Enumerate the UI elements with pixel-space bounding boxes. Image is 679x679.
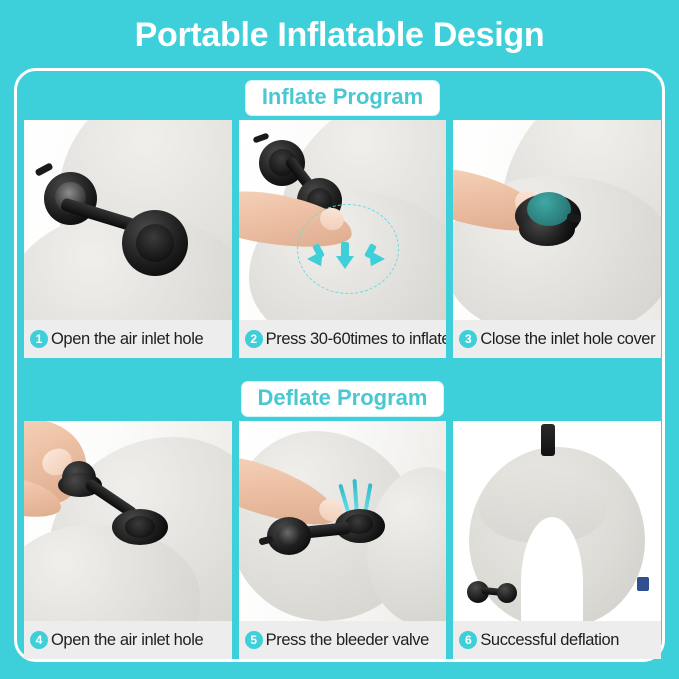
section-badge-deflate: Deflate Program (241, 381, 445, 417)
step-caption-2: 2 Press 30-60times to inflate (239, 320, 447, 358)
step-image-1 (24, 120, 232, 320)
step-number-badge-6: 6 (459, 631, 477, 649)
pillow-brand-tag (637, 577, 649, 591)
step-tile-3[interactable]: 3 Close the inlet hole cover (453, 120, 661, 358)
page-title: Portable Inflatable Design (0, 0, 679, 62)
step-caption-5: 5 Press the bleeder valve (239, 621, 447, 659)
step-image-4 (24, 421, 232, 621)
step-number-badge-4: 4 (30, 631, 48, 649)
step-image-5 (239, 421, 447, 621)
step-caption-text-5: Press the bleeder valve (266, 631, 429, 650)
step-caption-6: 6 Successful deflation (453, 621, 661, 659)
step-number-badge-5: 5 (245, 631, 263, 649)
valve-cap-green-top (527, 192, 571, 226)
step-tile-4[interactable]: 4 Open the air inlet hole (24, 421, 232, 659)
step-caption-1: 1 Open the air inlet hole (24, 320, 232, 358)
step-tile-1[interactable]: 1 Open the air inlet hole (24, 120, 232, 358)
inflate-badge-wrap: Inflate Program (17, 80, 668, 116)
deflate-badge-wrap: Deflate Program (17, 381, 668, 417)
step-caption-4: 4 Open the air inlet hole (24, 621, 232, 659)
step-tile-6[interactable]: 6 Successful deflation (453, 421, 661, 659)
step-caption-3: 3 Close the inlet hole cover (453, 320, 661, 358)
deflate-tiles: 4 Open the air inlet hole (24, 421, 661, 659)
section-badge-inflate: Inflate Program (245, 80, 440, 116)
step-caption-text-3: Close the inlet hole cover (480, 330, 655, 349)
content-frame: Inflate Program (14, 68, 665, 662)
inflate-tiles: 1 Open the air inlet hole (24, 120, 661, 358)
step-image-2 (239, 120, 447, 320)
step-tile-5[interactable]: 5 Press the bleeder valve (239, 421, 447, 659)
step-image-3 (453, 120, 661, 320)
step-number-badge-2: 2 (245, 330, 263, 348)
step-caption-text-4: Open the air inlet hole (51, 631, 203, 650)
step-number-badge-1: 1 (30, 330, 48, 348)
step-tile-2[interactable]: 2 Press 30-60times to inflate (239, 120, 447, 358)
down-arrow-center (336, 256, 354, 269)
step-caption-text-6: Successful deflation (480, 631, 619, 650)
step-image-6 (453, 421, 661, 621)
step-caption-text-1: Open the air inlet hole (51, 330, 203, 349)
step-number-badge-3: 3 (459, 330, 477, 348)
step-caption-text-2: Press 30-60times to inflate (266, 330, 447, 349)
pillow-hanging-strap (541, 424, 555, 456)
